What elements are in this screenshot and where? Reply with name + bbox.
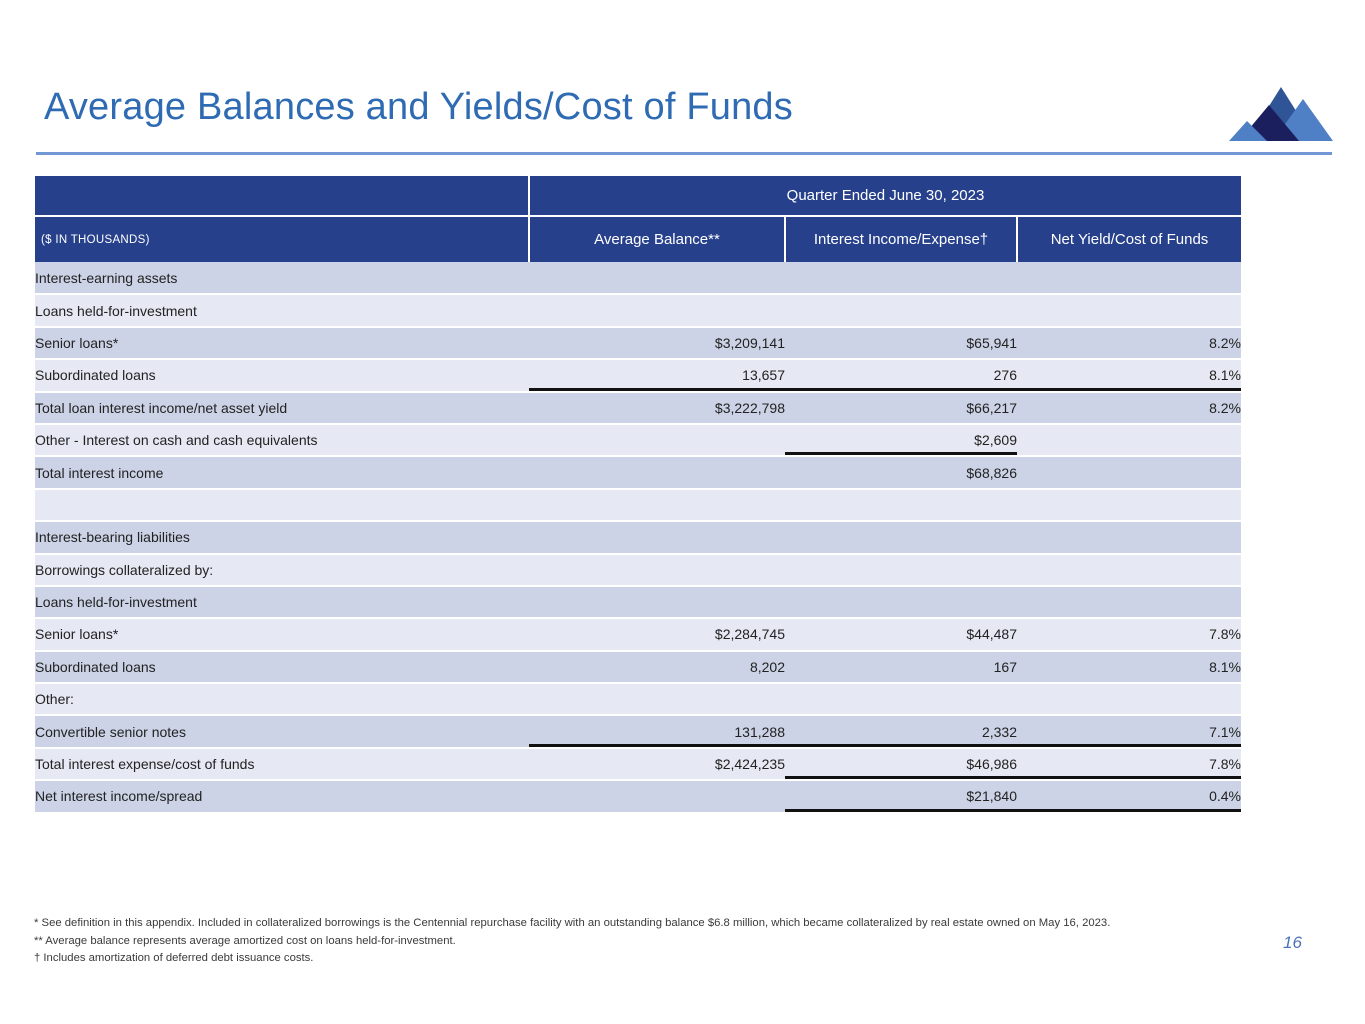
footnote-double-asterisk: ** Average balance represents average am…	[34, 933, 1154, 951]
row-label: Interest-bearing liabilities	[35, 521, 529, 553]
page-number: 16	[1283, 933, 1302, 953]
cell-interest-income-expense: $2,609	[785, 424, 1017, 456]
cell-net-yield-cost	[1017, 456, 1241, 488]
cell-interest-income-expense	[785, 262, 1017, 294]
table-row	[35, 489, 1241, 521]
page-title: Average Balances and Yields/Cost of Fund…	[44, 86, 793, 129]
cell-net-yield-cost: 7.1%	[1017, 715, 1241, 747]
cell-interest-income-expense	[785, 554, 1017, 586]
header-col-net-yield-cost: Net Yield/Cost of Funds	[1017, 216, 1241, 262]
cell-average-balance	[529, 586, 785, 618]
cell-average-balance	[529, 780, 785, 812]
cell-average-balance	[529, 262, 785, 294]
cell-average-balance: $3,209,141	[529, 327, 785, 359]
table-row: Total loan interest income/net asset yie…	[35, 392, 1241, 424]
cell-interest-income-expense: 276	[785, 359, 1017, 391]
row-label: Interest-earning assets	[35, 262, 529, 294]
cell-interest-income-expense: $65,941	[785, 327, 1017, 359]
row-label: Other - Interest on cash and cash equiva…	[35, 424, 529, 456]
table-header-group-row: Quarter Ended June 30, 2023	[35, 176, 1241, 216]
cell-net-yield-cost: 0.4%	[1017, 780, 1241, 812]
cell-interest-income-expense: 167	[785, 651, 1017, 683]
footnotes: * See definition in this appendix. Inclu…	[34, 915, 1154, 968]
table-body: Interest-earning assetsLoans held-for-in…	[35, 262, 1241, 813]
table-row: Interest-earning assets	[35, 262, 1241, 294]
row-label: Net interest income/spread	[35, 780, 529, 812]
financial-table-container: Quarter Ended June 30, 2023 ($ IN THOUSA…	[35, 176, 1241, 814]
cell-interest-income-expense	[785, 586, 1017, 618]
cell-net-yield-cost: 8.2%	[1017, 392, 1241, 424]
table-row: Senior loans*$2,284,745$44,4877.8%	[35, 618, 1241, 650]
row-label: Subordinated loans	[35, 359, 529, 391]
row-label: Convertible senior notes	[35, 715, 529, 747]
table-row: Subordinated loans13,6572768.1%	[35, 359, 1241, 391]
cell-average-balance: $2,284,745	[529, 618, 785, 650]
table-row: Subordinated loans8,2021678.1%	[35, 651, 1241, 683]
cell-average-balance: $2,424,235	[529, 748, 785, 780]
cell-net-yield-cost: 7.8%	[1017, 748, 1241, 780]
header-period-label: Quarter Ended June 30, 2023	[529, 176, 1241, 216]
cell-average-balance	[529, 456, 785, 488]
mountain-logo	[1229, 85, 1333, 147]
cell-interest-income-expense: 2,332	[785, 715, 1017, 747]
cell-interest-income-expense	[785, 683, 1017, 715]
header-units-label: ($ IN THOUSANDS)	[35, 216, 529, 262]
cell-interest-income-expense: $68,826	[785, 456, 1017, 488]
row-label: Loans held-for-investment	[35, 294, 529, 326]
row-label: Total loan interest income/net asset yie…	[35, 392, 529, 424]
table-row: Loans held-for-investment	[35, 586, 1241, 618]
cell-interest-income-expense: $21,840	[785, 780, 1017, 812]
row-label: Borrowings collateralized by:	[35, 554, 529, 586]
row-label: Senior loans*	[35, 327, 529, 359]
cell-average-balance: 13,657	[529, 359, 785, 391]
cell-net-yield-cost: 8.2%	[1017, 327, 1241, 359]
cell-net-yield-cost	[1017, 586, 1241, 618]
cell-average-balance	[529, 294, 785, 326]
row-label: Total interest expense/cost of funds	[35, 748, 529, 780]
row-label: Senior loans*	[35, 618, 529, 650]
cell-average-balance	[529, 424, 785, 456]
table-row: Interest-bearing liabilities	[35, 521, 1241, 553]
cell-interest-income-expense: $66,217	[785, 392, 1017, 424]
cell-average-balance	[529, 489, 785, 521]
cell-interest-income-expense: $46,986	[785, 748, 1017, 780]
cell-net-yield-cost	[1017, 521, 1241, 553]
cell-interest-income-expense: $44,487	[785, 618, 1017, 650]
table-row: Loans held-for-investment	[35, 294, 1241, 326]
row-label: Subordinated loans	[35, 651, 529, 683]
table-row: Other:	[35, 683, 1241, 715]
cell-net-yield-cost: 7.8%	[1017, 618, 1241, 650]
row-label: Other:	[35, 683, 529, 715]
table-row: Total interest income$68,826	[35, 456, 1241, 488]
cell-average-balance: 131,288	[529, 715, 785, 747]
cell-net-yield-cost	[1017, 489, 1241, 521]
cell-interest-income-expense	[785, 521, 1017, 553]
cell-net-yield-cost	[1017, 683, 1241, 715]
cell-average-balance: $3,222,798	[529, 392, 785, 424]
row-label: Total interest income	[35, 456, 529, 488]
table-row: Convertible senior notes131,2882,3327.1%	[35, 715, 1241, 747]
table-row: Other - Interest on cash and cash equiva…	[35, 424, 1241, 456]
table-header-columns-row: ($ IN THOUSANDS) Average Balance** Inter…	[35, 216, 1241, 262]
footnote-asterisk: * See definition in this appendix. Inclu…	[34, 915, 1154, 933]
title-divider	[36, 152, 1332, 155]
cell-net-yield-cost	[1017, 554, 1241, 586]
average-balances-table: Quarter Ended June 30, 2023 ($ IN THOUSA…	[35, 176, 1241, 814]
row-label: Loans held-for-investment	[35, 586, 529, 618]
header-col-interest-income-expense: Interest Income/Expense†	[785, 216, 1017, 262]
table-row: Borrowings collateralized by:	[35, 554, 1241, 586]
table-row: Senior loans*$3,209,141$65,9418.2%	[35, 327, 1241, 359]
header-blank-cell	[35, 176, 529, 216]
table-row: Total interest expense/cost of funds$2,4…	[35, 748, 1241, 780]
cell-average-balance: 8,202	[529, 651, 785, 683]
row-label	[35, 489, 529, 521]
cell-net-yield-cost	[1017, 424, 1241, 456]
cell-average-balance	[529, 521, 785, 553]
cell-net-yield-cost	[1017, 294, 1241, 326]
cell-net-yield-cost	[1017, 262, 1241, 294]
cell-interest-income-expense	[785, 489, 1017, 521]
table-row: Net interest income/spread$21,8400.4%	[35, 780, 1241, 812]
cell-average-balance	[529, 554, 785, 586]
cell-average-balance	[529, 683, 785, 715]
footnote-dagger: † Includes amortization of deferred debt…	[34, 950, 1154, 968]
cell-interest-income-expense	[785, 294, 1017, 326]
header-col-average-balance: Average Balance**	[529, 216, 785, 262]
cell-net-yield-cost: 8.1%	[1017, 651, 1241, 683]
cell-net-yield-cost: 8.1%	[1017, 359, 1241, 391]
